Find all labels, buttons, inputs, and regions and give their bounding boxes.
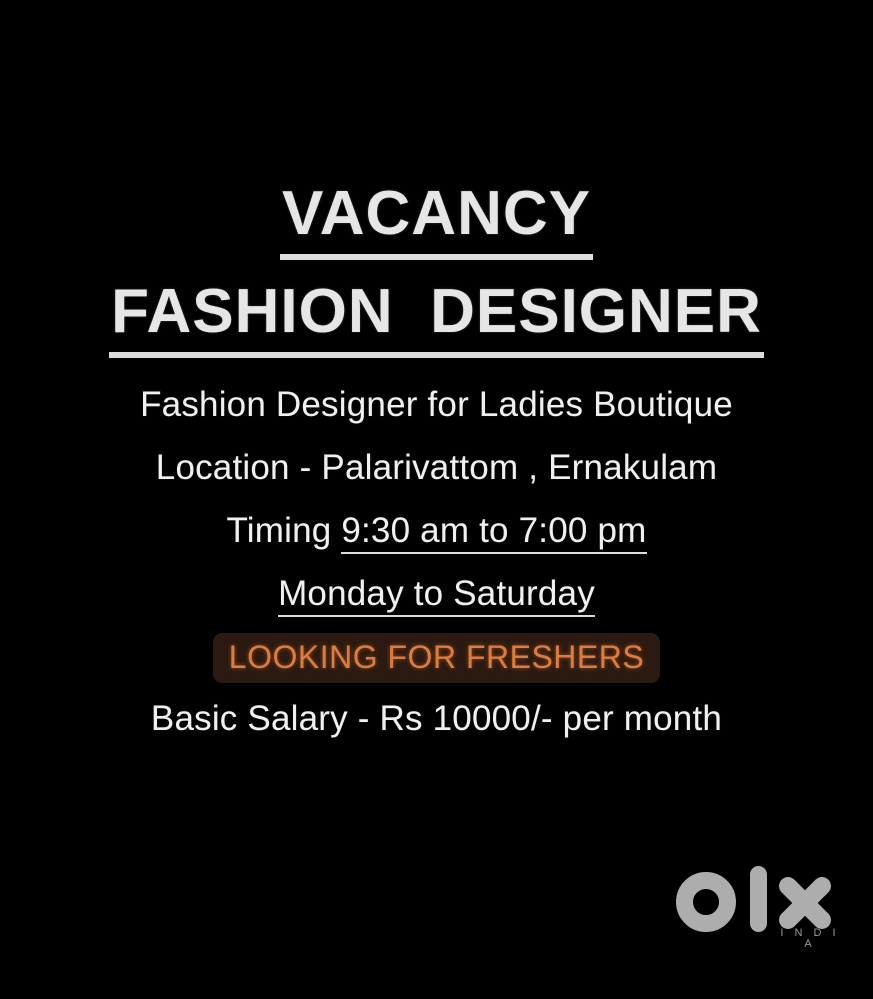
timing-hours: 9:30 am to 7:00 pm [341, 513, 646, 554]
location-line: Location - Palarivattom , Ernakulam [0, 450, 873, 485]
poster-subtitle-row: FASHION DESIGNER [0, 281, 873, 358]
olx-letter-x-icon [776, 874, 834, 932]
freshers-highlight-badge: LOOKING FOR FRESHERS [213, 633, 660, 683]
olx-country-label: I N D I A [772, 928, 848, 950]
olx-letter-o-icon [676, 872, 736, 932]
poster-title-row: VACANCY [0, 183, 873, 260]
olx-watermark: I N D I A [676, 866, 848, 951]
working-days-line: Monday to Saturday [0, 576, 873, 617]
freshers-highlight-row: LOOKING FOR FRESHERS [0, 633, 873, 683]
role-description-text: Fashion Designer for Ladies Boutique [140, 385, 733, 424]
salary-line: Basic Salary - Rs 10000/- per month [0, 701, 873, 736]
poster-subtitle: FASHION DESIGNER [109, 281, 764, 358]
salary-text: Basic Salary - Rs 10000/- per month [151, 699, 722, 738]
job-vacancy-poster: VACANCY FASHION DESIGNER Fashion Designe… [0, 0, 873, 999]
role-description-line: Fashion Designer for Ladies Boutique [0, 387, 873, 422]
olx-logo-icon [676, 866, 848, 932]
working-days-text: Monday to Saturday [278, 576, 595, 617]
poster-title: VACANCY [280, 183, 593, 260]
location-text: Location - Palarivattom , Ernakulam [156, 448, 717, 487]
timing-line: Timing 9:30 am to 7:00 pm [0, 513, 873, 554]
timing-label: Timing [226, 511, 341, 550]
olx-letter-l-icon [750, 866, 767, 932]
